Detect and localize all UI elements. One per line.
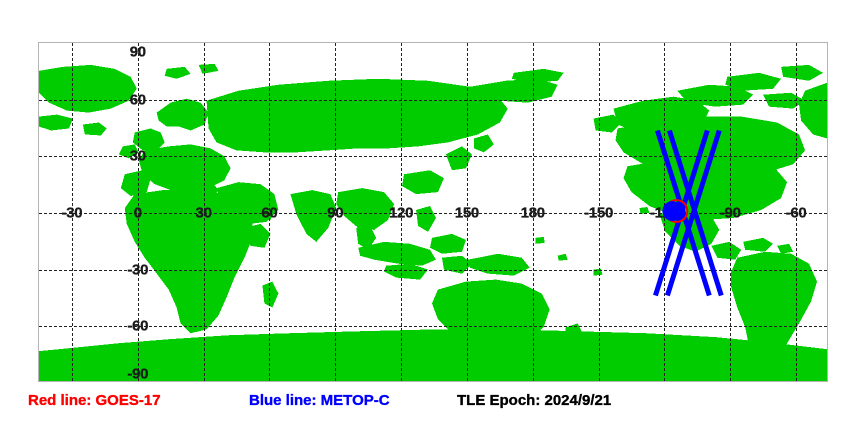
longitude-label: -60 xyxy=(786,205,807,222)
longitude-label: 90 xyxy=(327,205,343,222)
longitude-label: -150 xyxy=(584,205,613,222)
latitude-label: -90 xyxy=(127,366,148,383)
satellite-ground-track-page: -300306090120150180-150-120-90-60906030-… xyxy=(0,0,850,425)
longitude-label: 180 xyxy=(521,205,545,222)
longitude-label: -30 xyxy=(62,205,83,222)
longitude-label: 30 xyxy=(196,205,212,222)
legend-red-line-goes17: Red line: GOES-17 xyxy=(28,392,161,409)
longitude-label: 120 xyxy=(389,205,413,222)
longitude-label: 0 xyxy=(134,205,142,222)
longitude-label: 60 xyxy=(261,205,277,222)
longitude-label: 150 xyxy=(455,205,479,222)
world-map-frame[interactable]: -300306090120150180-150-120-90-60906030-… xyxy=(38,42,828,382)
latitude-label: -30 xyxy=(127,261,148,278)
legend-tle-epoch: TLE Epoch: 2024/9/21 xyxy=(457,392,611,409)
latitude-label: 60 xyxy=(130,91,146,108)
world-map-landmass-layer xyxy=(39,43,827,381)
legend-bar: Red line: GOES-17 Blue line: METOP-C TLE… xyxy=(0,392,850,425)
longitude-label: -90 xyxy=(720,205,741,222)
latitude-label: -60 xyxy=(127,318,148,335)
longitude-label: -120 xyxy=(650,205,679,222)
latitude-label: 30 xyxy=(130,148,146,165)
legend-blue-line-metopc: Blue line: METOP-C xyxy=(249,392,390,409)
latitude-label: 90 xyxy=(130,44,146,61)
